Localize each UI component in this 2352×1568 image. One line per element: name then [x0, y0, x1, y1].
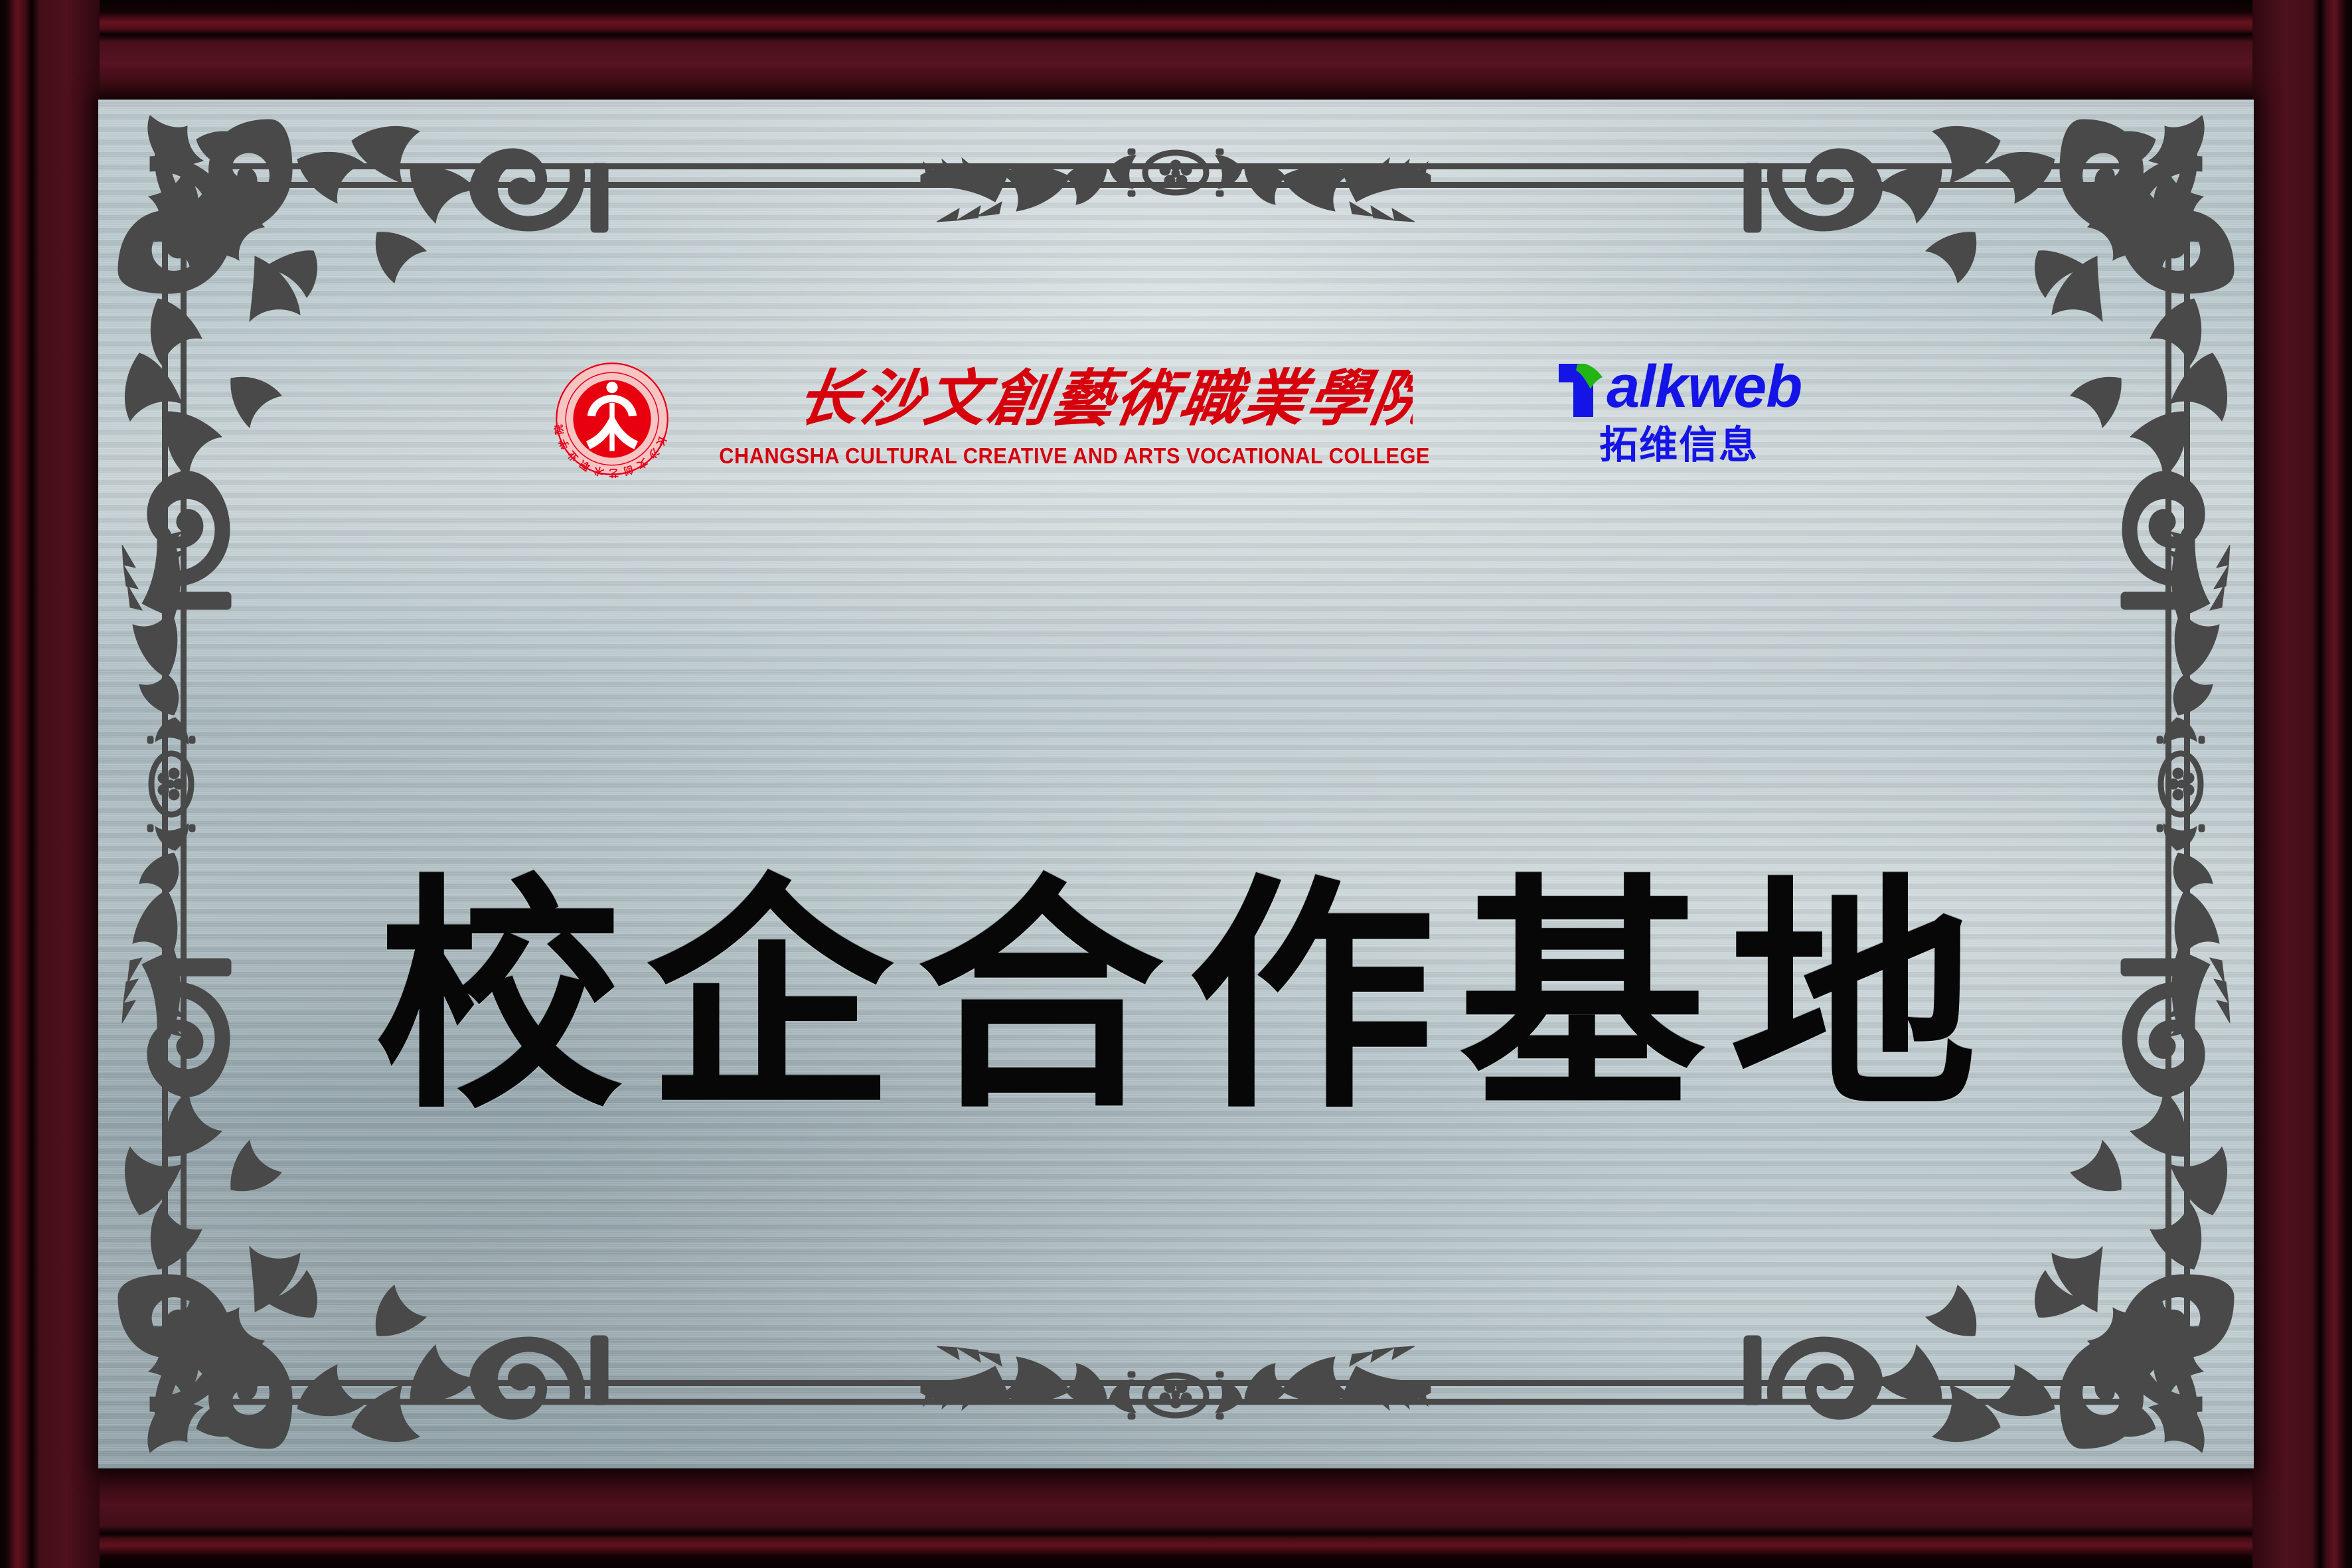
college-seal-icon: 长沙文创艺术职业学院 CHANGSHA CULTURAL CREATIVE AN… [550, 357, 674, 481]
college-name-en: CHANGSHA CULTURAL CREATIVE AND ARTS VOCA… [719, 443, 1430, 469]
logo-row: 长沙文创艺术职业学院 CHANGSHA CULTURAL CREATIVE AN… [98, 357, 2254, 481]
plate-content: 长沙文创艺术职业学院 CHANGSHA CULTURAL CREATIVE AN… [98, 100, 2254, 1468]
wood-frame-right [2252, 0, 2352, 1568]
plaque-image: 长沙文创艺术职业学院 CHANGSHA CULTURAL CREATIVE AN… [0, 0, 2352, 1568]
talkweb-name-cn: 拓维信息 [1599, 426, 1759, 465]
college-wordmark: 长沙文創藝術職業學院 CHANGSHA CULTURAL CREATIVE AN… [692, 365, 1456, 469]
page-title: 校企合作基地 [98, 875, 2254, 1122]
college-logo: 长沙文创艺术职业学院 CHANGSHA CULTURAL CREATIVE AN… [550, 357, 1456, 481]
talkweb-t-mark-icon [1556, 360, 1608, 421]
svg-text:长沙文創藝術職業學院: 长沙文創藝術職業學院 [793, 365, 1413, 434]
metal-plate: 长沙文创艺术职业学院 CHANGSHA CULTURAL CREATIVE AN… [98, 100, 2254, 1468]
talkweb-logo: alkweb 拓维信息 [1556, 360, 1802, 465]
wood-frame-top [0, 0, 2352, 101]
wood-frame-left [0, 0, 100, 1568]
college-name-cn: 长沙文創藝術職業學院 [736, 365, 1413, 437]
talkweb-wordmark: alkweb [1607, 360, 1802, 415]
talkweb-wordmark-row: alkweb [1556, 360, 1802, 421]
wood-frame-bottom [0, 1467, 2352, 1568]
